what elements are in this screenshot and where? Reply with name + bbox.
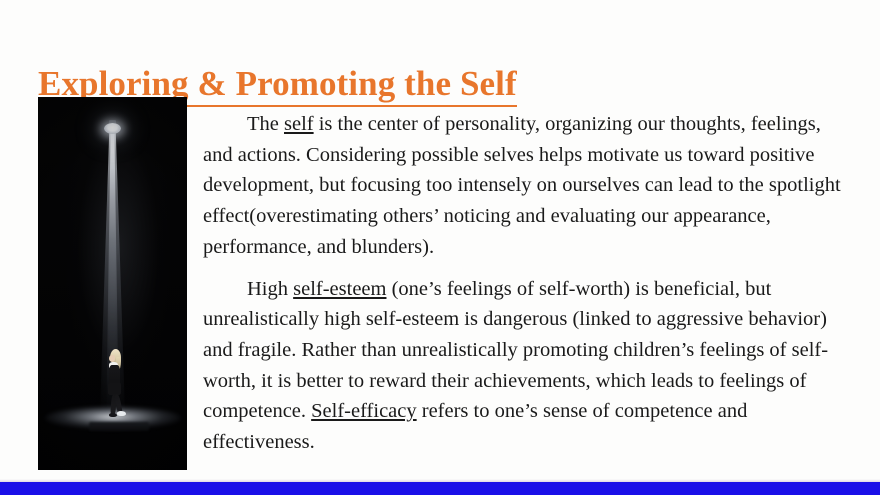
figure-shoe-back xyxy=(109,413,117,417)
figure-shoe-front xyxy=(117,411,126,416)
slide-body-text: The self is the center of personality, o… xyxy=(203,109,849,458)
bottom-accent-bar xyxy=(0,482,880,495)
stage-floor-edge xyxy=(89,422,149,431)
presentation-slide: Exploring & Promoting the Self The self … xyxy=(0,0,880,495)
person-figure xyxy=(107,349,129,419)
key-term-self-efficacy: Self-efficacy xyxy=(311,400,416,422)
figure-face xyxy=(109,355,115,362)
key-term-self-esteem: self-esteem xyxy=(293,278,386,300)
paragraph-2-text-a: High xyxy=(247,278,293,300)
paragraph-self-esteem: High self-esteem (one’s feelings of self… xyxy=(203,274,849,458)
paragraph-1-text-a: The xyxy=(247,113,284,135)
paragraph-self: The self is the center of personality, o… xyxy=(203,109,849,263)
spotlight-stage-photo xyxy=(38,97,187,470)
spotlight-lamp-icon xyxy=(104,123,121,134)
key-term-self: self xyxy=(284,113,314,135)
